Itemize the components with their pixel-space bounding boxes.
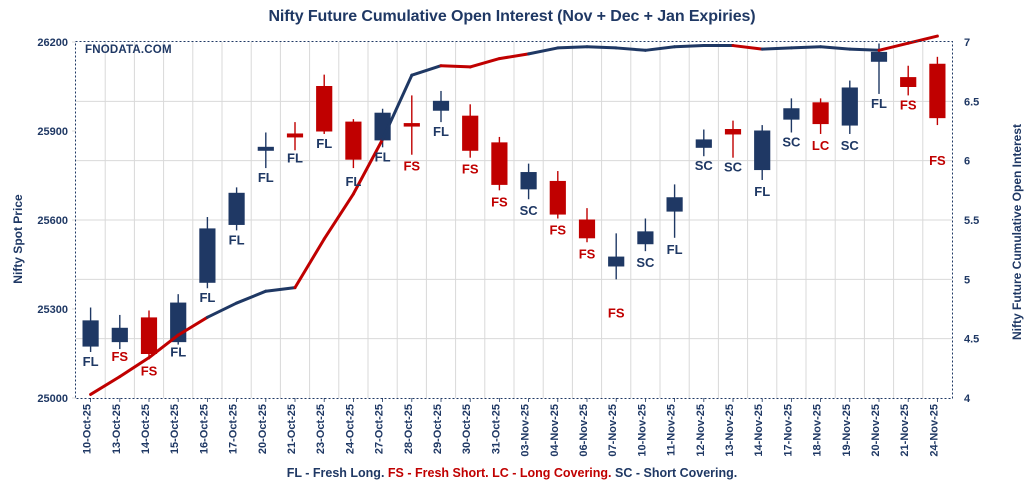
y-axis-right-tick: 4.5	[964, 334, 979, 346]
candle-tag-fl: FL	[754, 184, 770, 199]
x-axis-tick: 23-Oct-25	[315, 404, 327, 454]
chart-root: Nifty Future Cumulative Open Interest (N…	[0, 0, 1024, 490]
x-axis-tick: 21-Nov-25	[899, 404, 911, 457]
y-axis-right-tick: 6	[964, 156, 970, 168]
oi-line-segment	[850, 49, 879, 50]
x-axis-tick: 30-Oct-25	[461, 404, 473, 454]
candle-tag-sc: SC	[636, 255, 655, 270]
x-axis-tick: 14-Nov-25	[753, 404, 765, 457]
y-axis-left-tick: 25300	[37, 304, 68, 316]
y-axis-left-tick: 25900	[37, 126, 68, 138]
x-axis-tick: 10-Nov-25	[636, 404, 648, 457]
y-axis-left-label: Nifty Spot Price	[11, 159, 25, 319]
candle-tag-fl: FL	[83, 354, 99, 369]
oi-line-segment	[587, 47, 616, 48]
candlestick	[433, 91, 448, 122]
candlestick	[404, 95, 419, 154]
legend-fs: FS - Fresh Short.	[388, 466, 489, 480]
candlestick	[258, 132, 273, 168]
watermark-label: FNODATA.COM	[85, 44, 172, 56]
candlestick	[725, 121, 740, 158]
oi-line-segment	[821, 47, 850, 49]
x-axis-tick: 11-Nov-25	[666, 404, 678, 456]
candlestick	[609, 233, 624, 279]
x-axis-tick: 15-Oct-25	[169, 404, 181, 454]
oi-line-segment	[733, 46, 762, 50]
y-axis-right-tick: 5	[964, 274, 970, 286]
candle-tag-fs: FS	[579, 246, 596, 261]
x-axis-tick: 04-Nov-25	[549, 404, 561, 457]
legend-lc: LC - Long Covering.	[492, 466, 611, 480]
x-axis-tick: 12-Nov-25	[695, 404, 707, 457]
oi-line-segment	[266, 288, 295, 292]
y-axis-right-tick: 6.5	[964, 96, 979, 108]
candlestick	[83, 308, 98, 353]
oi-line-segment	[762, 48, 791, 49]
candlestick	[638, 219, 653, 252]
candle-tag-fs: FS	[462, 162, 479, 177]
candle-tag-sc: SC	[695, 158, 714, 173]
candle-tag-fl: FL	[258, 170, 274, 185]
candlestick	[579, 208, 594, 242]
x-axis-tick: 10-Oct-25	[82, 404, 94, 454]
y-axis-right-label: Nifty Future Cumulative Open Interest	[1010, 87, 1024, 377]
oi-line-segment	[645, 47, 674, 51]
candlestick	[200, 217, 215, 288]
y-axis-right-tick: 7	[964, 37, 970, 49]
candle-tag-fs: FS	[549, 223, 566, 238]
legend-sc: SC - Short Covering.	[615, 466, 737, 480]
x-axis-tick: 17-Oct-25	[228, 404, 240, 454]
oi-line-segment	[616, 48, 645, 50]
oi-line-segment	[791, 47, 820, 48]
oi-line-segment	[441, 66, 470, 67]
candlestick	[317, 75, 332, 134]
candlestick	[287, 122, 302, 150]
candle-tag-fs: FS	[491, 194, 508, 209]
candlestick	[930, 57, 945, 125]
candlestick	[229, 187, 244, 230]
legend-note: FL - Fresh Long. FS - Fresh Short. LC - …	[0, 466, 1024, 480]
candlestick	[696, 130, 711, 157]
candle-tag-sc: SC	[782, 134, 801, 149]
x-axis-tick: 16-Oct-25	[198, 404, 210, 454]
candle-tag-fs: FS	[111, 349, 128, 364]
candle-tag-fl: FL	[345, 174, 361, 189]
candle-tag-fl: FL	[170, 345, 186, 360]
candle-tag-fs: FS	[608, 305, 625, 320]
x-axis-tick: 13-Nov-25	[724, 404, 736, 457]
oi-line-segment	[558, 47, 587, 48]
x-axis-tick: 20-Oct-25	[257, 404, 269, 454]
candle-tag-sc: SC	[841, 138, 860, 153]
candlestick	[463, 104, 478, 157]
x-axis-tick: 31-Oct-25	[490, 404, 502, 454]
candle-tag-fl: FL	[316, 136, 332, 151]
candlestick	[901, 66, 916, 96]
x-axis-tick: 28-Oct-25	[403, 404, 415, 454]
candlestick	[492, 137, 507, 190]
candle-tag-fl: FL	[667, 242, 683, 257]
candlestick	[755, 125, 770, 180]
candle-tag-fl: FL	[871, 96, 887, 111]
x-axis-tick: 24-Oct-25	[344, 404, 356, 454]
candlestick	[550, 171, 565, 218]
candle-tag-lc: LC	[812, 138, 830, 153]
y-axis-right-tick: 4	[964, 393, 971, 405]
x-axis-tick: 03-Nov-25	[520, 404, 532, 457]
candle-tag-fl: FL	[433, 124, 449, 139]
candlestick	[842, 81, 857, 134]
x-axis-tick: 06-Nov-25	[578, 404, 590, 457]
x-axis-tick: 29-Oct-25	[432, 404, 444, 454]
candle-tag-fs: FS	[141, 363, 158, 378]
candle-tag-fs: FS	[900, 97, 917, 112]
y-axis-left-tick: 25600	[37, 215, 68, 227]
x-axis-tick: 19-Nov-25	[841, 404, 853, 457]
y-axis-right-tick: 5.5	[964, 215, 979, 227]
chart-title: Nifty Future Cumulative Open Interest (N…	[0, 8, 1024, 26]
oi-line-segment	[675, 46, 704, 47]
candle-tag-fs: FS	[929, 153, 946, 168]
x-axis-tick: 20-Nov-25	[870, 404, 882, 457]
y-axis-left-ticks: 2620025900256002530025000	[37, 37, 76, 405]
y-axis-left-tick: 25000	[37, 393, 68, 405]
candlestick	[521, 164, 536, 200]
x-axis-tick: 21-Oct-25	[286, 404, 298, 454]
x-axis-tick: 13-Oct-25	[111, 404, 123, 454]
candlestick	[112, 315, 127, 349]
x-axis-tick: 07-Nov-25	[607, 404, 619, 457]
candle-tag-fl: FL	[375, 149, 391, 164]
candle-tag-fl: FL	[229, 232, 245, 247]
chart-plot-area: 2620025900256002530025000 76.565.554.54 …	[0, 0, 1024, 490]
candlestick	[667, 184, 682, 237]
candle-tag-fl: FL	[199, 290, 215, 305]
candle-tag-fl: FL	[287, 150, 303, 165]
y-axis-left-tick: 26200	[37, 37, 68, 49]
candle-tag-sc: SC	[520, 203, 539, 218]
legend-fl: FL - Fresh Long.	[287, 466, 385, 480]
x-axis-tick: 27-Oct-25	[374, 404, 386, 454]
x-axis-tick: 17-Nov-25	[782, 404, 794, 457]
candle-tag-fs: FS	[403, 159, 420, 174]
candlestick	[171, 294, 186, 344]
candlestick	[813, 98, 828, 134]
x-axis-tick: 14-Oct-25	[140, 404, 152, 454]
candlestick	[784, 98, 799, 132]
x-axis-tick: 18-Nov-25	[812, 404, 824, 457]
x-axis-ticks: 10-Oct-2513-Oct-2514-Oct-2515-Oct-2516-O…	[82, 398, 941, 457]
x-axis-tick: 24-Nov-25	[928, 404, 940, 457]
y-axis-right-ticks: 76.565.554.54	[964, 37, 979, 405]
candle-tag-sc: SC	[724, 160, 743, 175]
